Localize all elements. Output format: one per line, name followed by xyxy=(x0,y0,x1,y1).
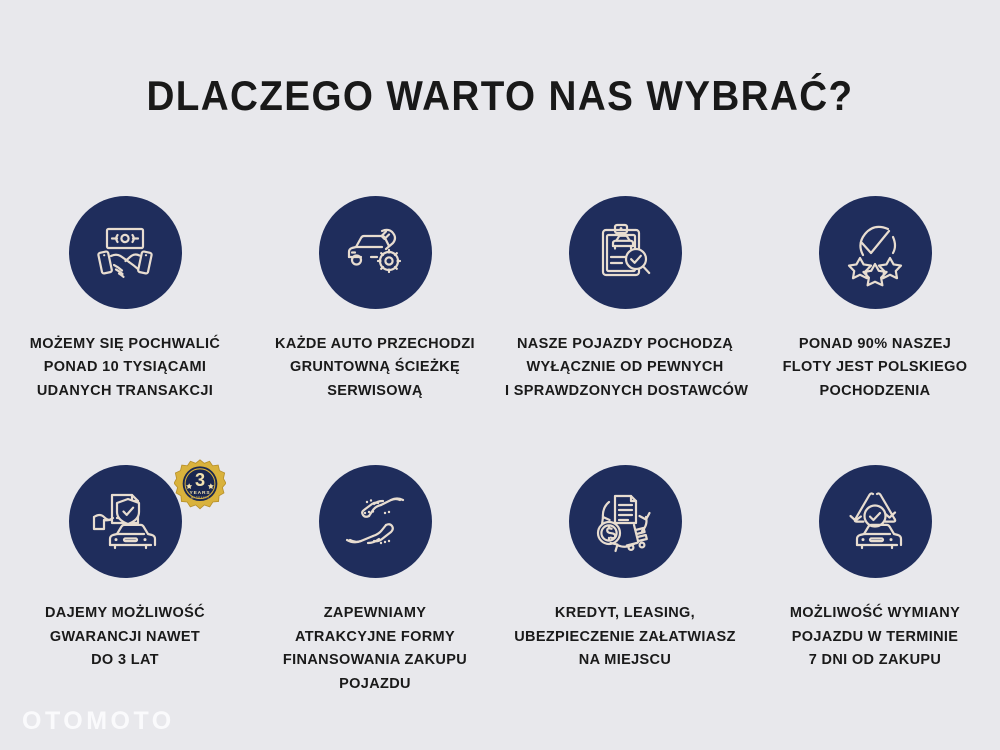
feature-icon-wrap-7 xyxy=(569,465,682,578)
feature-circle-5 xyxy=(69,465,182,578)
caption-line: NA MIEJSCU xyxy=(505,649,745,672)
feature-circle-6 xyxy=(319,465,432,578)
caption-line: GWARANCJI NAWET xyxy=(5,626,245,649)
otomoto-watermark: OTOMOTO xyxy=(22,707,175,736)
caption-line: 7 DNI OD ZAKUPU xyxy=(755,649,995,672)
caption-line: PONAD 90% NASZEJ xyxy=(755,333,995,356)
caption-line: PONAD 10 TYSIĄCAMI xyxy=(5,356,245,379)
feature-icon-wrap-6 xyxy=(319,465,432,578)
finance-cycle-icon xyxy=(591,488,659,556)
feature-item-1: MOŻEMY SIĘ POCHWALIĆ PONAD 10 TYSIĄCAMI … xyxy=(0,196,250,403)
feature-caption-1: MOŻEMY SIĘ POCHWALIĆ PONAD 10 TYSIĄCAMI … xyxy=(5,333,245,403)
feature-caption-7: KREDYT, LEASING, UBEZPIECZENIE ZAŁATWIAS… xyxy=(505,602,745,672)
feature-caption-5: DAJEMY MOŻLIWOŚĆ GWARANCJI NAWET DO 3 LA… xyxy=(5,602,245,672)
feature-icon-wrap-4 xyxy=(819,196,932,309)
caption-line: KAŻDE AUTO PRZECHODZI xyxy=(255,333,495,356)
caption-line: ATRAKCYJNE FORMY xyxy=(255,626,495,649)
feature-item-5: 3 YEARS WARRANTY DAJEMY MOŻLIWOŚĆ GWARAN… xyxy=(0,465,250,696)
caption-line: FLOTY JEST POLSKIEGO xyxy=(755,356,995,379)
caption-line: SERWISOWĄ xyxy=(255,380,495,403)
caption-line: WYŁĄCZNIE OD PEWNYCH xyxy=(505,356,745,379)
hands-money-exchange-icon xyxy=(341,488,409,556)
caption-line: MOŻEMY SIĘ POCHWALIĆ xyxy=(5,333,245,356)
caption-line: UBEZPIECZENIE ZAŁATWIASZ xyxy=(505,626,745,649)
feature-item-2: KAŻDE AUTO PRZECHODZI GRUNTOWNĄ ŚCIEŻKĘ … xyxy=(250,196,500,403)
page-title: DLACZEGO WARTO NAS WYBRAĆ? xyxy=(40,72,960,120)
feature-circle-1 xyxy=(69,196,182,309)
caption-line: FINANSOWANIA ZAKUPU xyxy=(255,649,495,672)
features-grid: MOŻEMY SIĘ POCHWALIĆ PONAD 10 TYSIĄCAMI … xyxy=(0,196,1000,696)
feature-circle-3 xyxy=(569,196,682,309)
hand-document-shield-car-icon xyxy=(90,487,160,557)
feature-caption-2: KAŻDE AUTO PRZECHODZI GRUNTOWNĄ ŚCIEŻKĘ … xyxy=(255,333,495,403)
feature-item-3: NASZE POJAZDY POCHODZĄ WYŁĄCZNIE OD PEWN… xyxy=(500,196,750,403)
caption-line: DAJEMY MOŻLIWOŚĆ xyxy=(5,602,245,625)
feature-item-7: KREDYT, LEASING, UBEZPIECZENIE ZAŁATWIAS… xyxy=(500,465,750,696)
car-exchange-check-icon xyxy=(841,488,909,556)
feature-circle-8 xyxy=(819,465,932,578)
caption-line: MOŻLIWOŚĆ WYMIANY xyxy=(755,602,995,625)
feature-icon-wrap-8 xyxy=(819,465,932,578)
feature-icon-wrap-5: 3 YEARS WARRANTY xyxy=(69,465,182,578)
clipboard-car-magnifier-icon xyxy=(591,219,659,287)
feature-item-6: ZAPEWNIAMY ATRAKCYJNE FORMY FINANSOWANIA… xyxy=(250,465,500,696)
car-wrench-gear-icon xyxy=(341,219,409,287)
caption-line: ZAPEWNIAMY xyxy=(255,602,495,625)
handshake-money-icon xyxy=(91,219,159,287)
caption-line: KREDYT, LEASING, xyxy=(505,602,745,625)
caption-line: POJAZDU xyxy=(255,673,495,696)
badge-number: 3 xyxy=(194,470,204,490)
feature-caption-3: NASZE POJAZDY POCHODZĄ WYŁĄCZNIE OD PEWN… xyxy=(505,333,745,403)
feature-circle-4 xyxy=(819,196,932,309)
feature-icon-wrap-1 xyxy=(69,196,182,309)
caption-line: UDANYCH TRANSAKCJI xyxy=(5,380,245,403)
caption-line: I SPRAWDZONYCH DOSTAWCÓW xyxy=(505,380,745,403)
caption-line: GRUNTOWNĄ ŚCIEŻKĘ xyxy=(255,356,495,379)
feature-circle-2 xyxy=(319,196,432,309)
feature-caption-6: ZAPEWNIAMY ATRAKCYJNE FORMY FINANSOWANIA… xyxy=(255,602,495,696)
caption-line: POJAZDU W TERMINIE xyxy=(755,626,995,649)
feature-item-4: PONAD 90% NASZEJ FLOTY JEST POLSKIEGO PO… xyxy=(750,196,1000,403)
infographic-page: DLACZEGO WARTO NAS WYBRAĆ? xyxy=(0,0,1000,750)
feature-circle-7 xyxy=(569,465,682,578)
checkmark-stars-icon xyxy=(841,219,909,287)
feature-icon-wrap-2 xyxy=(319,196,432,309)
caption-line: DO 3 LAT xyxy=(5,649,245,672)
feature-item-8: MOŻLIWOŚĆ WYMIANY POJAZDU W TERMINIE 7 D… xyxy=(750,465,1000,696)
features-row-2: 3 YEARS WARRANTY DAJEMY MOŻLIWOŚĆ GWARAN… xyxy=(0,465,1000,696)
three-year-warranty-badge: 3 YEARS WARRANTY xyxy=(174,459,226,511)
feature-caption-4: PONAD 90% NASZEJ FLOTY JEST POLSKIEGO PO… xyxy=(755,333,995,403)
caption-line: POCHODZENIA xyxy=(755,380,995,403)
feature-caption-8: MOŻLIWOŚĆ WYMIANY POJAZDU W TERMINIE 7 D… xyxy=(755,602,995,672)
caption-line: NASZE POJAZDY POCHODZĄ xyxy=(505,333,745,356)
features-row-1: MOŻEMY SIĘ POCHWALIĆ PONAD 10 TYSIĄCAMI … xyxy=(0,196,1000,403)
feature-icon-wrap-3 xyxy=(569,196,682,309)
badge-subtext: WARRANTY xyxy=(190,496,209,500)
